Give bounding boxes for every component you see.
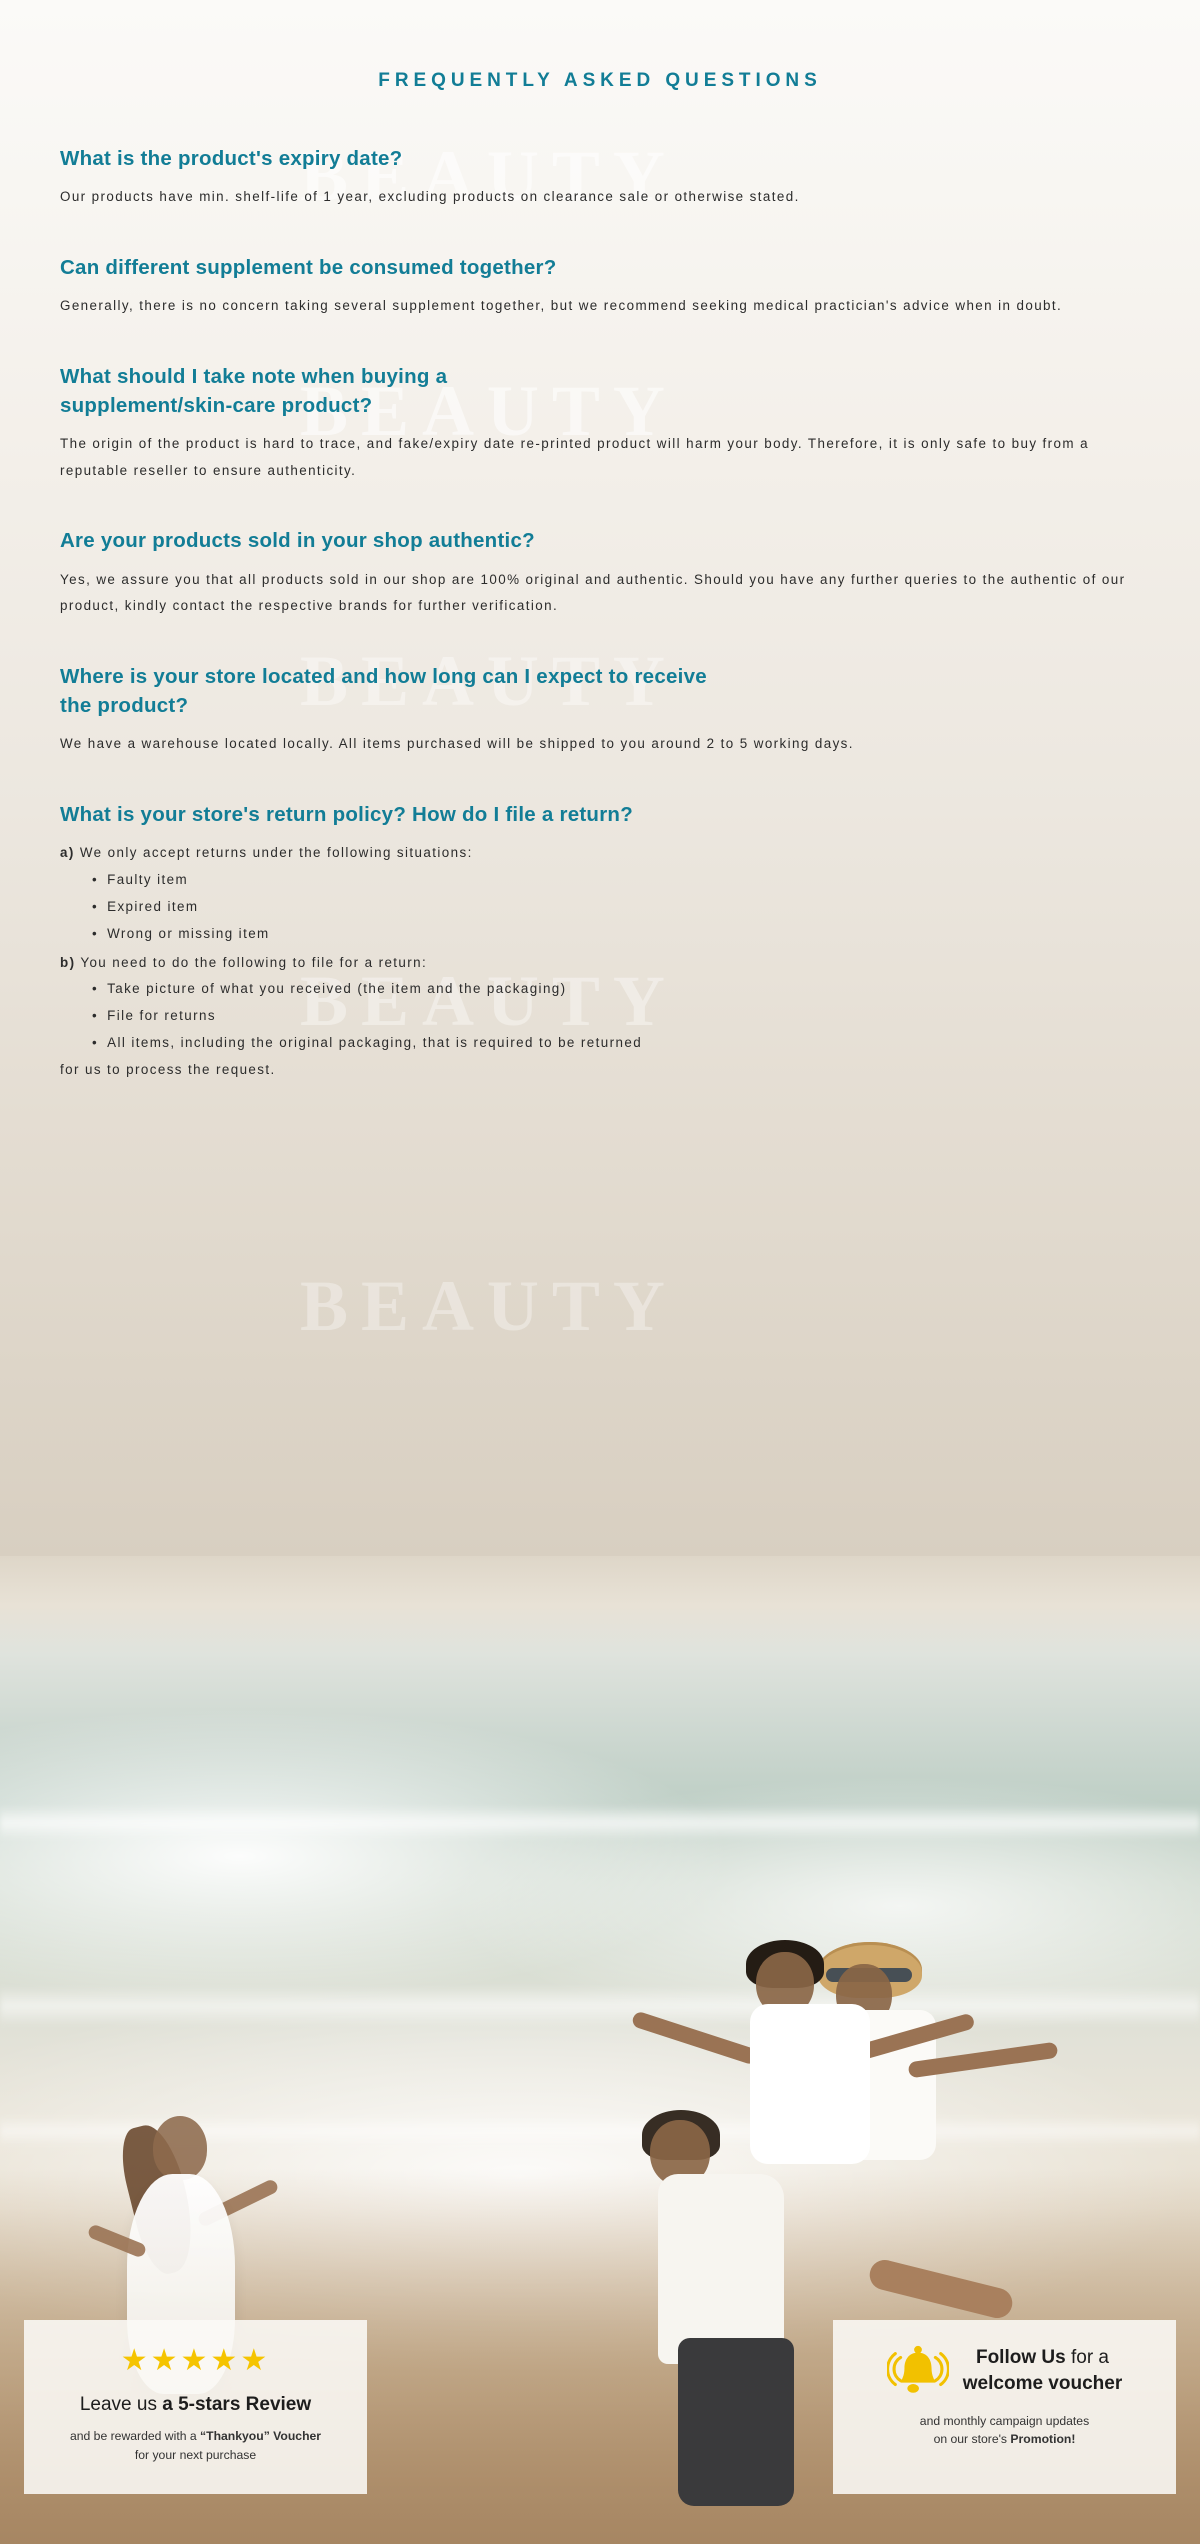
hero-beach-photo: ★★★★★ Leave us a 5-stars Review and be r… (0, 1556, 1200, 2544)
review-sub-bold: “Thankyou” Voucher (200, 2429, 321, 2443)
faq-question: Can different supplement be consumed tog… (60, 253, 1140, 282)
faq-item: Can different supplement be consumed tog… (60, 253, 1140, 320)
faq-item-returns: What is your store's return policy? How … (60, 800, 1140, 1083)
faq-item: What should I take note when buying a su… (60, 362, 1140, 485)
faq-question: What is your store's return policy? How … (60, 800, 1140, 829)
list-item: File for returns (60, 1003, 1140, 1030)
returns-group-a-list: Faulty item Expired item Wrong or missin… (60, 867, 1140, 947)
faq-answer: Our products have min. shelf-life of 1 y… (60, 184, 1140, 211)
returns-group-b-list: Take picture of what you received (the i… (60, 976, 1140, 1056)
adult-leg (867, 2257, 1016, 2321)
faq-question: Where is your store located and how long… (60, 662, 720, 720)
review-headline-bold: a 5-stars Review (162, 2394, 311, 2415)
follow-headline-plain: for a (1066, 2347, 1109, 2368)
follow-card-headline: Follow Us for a welcome voucher (963, 2345, 1122, 2396)
star-rating-icon: ★★★★★ (42, 2346, 349, 2376)
follow-headline-bold1: Follow Us (976, 2347, 1066, 2368)
follow-card-row: Follow Us for a welcome voucher (851, 2342, 1158, 2400)
returns-group-a: a) We only accept returns under the foll… (60, 840, 1140, 867)
faq-answer: We have a warehouse located locally. All… (60, 731, 1140, 758)
list-item: Take picture of what you received (the i… (60, 976, 1140, 1003)
review-sub-plain: and be rewarded with a (70, 2429, 200, 2443)
faq-section: BEAUTY BEAUTY BEAUTY BEAUTY BEAUTY FREQU… (0, 0, 1200, 1556)
faq-question: What is the product's expiry date? (60, 144, 1140, 173)
child-arm (631, 2010, 760, 2065)
returns-group-a-text: We only accept returns under the followi… (80, 845, 473, 860)
faq-item: Are your products sold in your shop auth… (60, 526, 1140, 620)
watermark-beauty: BEAUTY (300, 1265, 678, 1348)
follow-card[interactable]: Follow Us for a welcome voucher and mont… (833, 2320, 1176, 2494)
faq-question: Are your products sold in your shop auth… (60, 526, 1140, 555)
review-card[interactable]: ★★★★★ Leave us a 5-stars Review and be r… (24, 2320, 367, 2494)
faq-item: What is the product's expiry date? Our p… (60, 144, 1140, 211)
returns-group-b: b) You need to do the following to file … (60, 950, 1140, 977)
faq-question: What should I take note when buying a su… (60, 362, 580, 420)
follow-sub-line1: and monthly campaign updates (920, 2414, 1089, 2428)
wave-foam (0, 1806, 1200, 1840)
follow-headline-bold2: welcome voucher (963, 2373, 1122, 2394)
returns-closing: for us to process the request. (60, 1057, 1140, 1084)
faq-answer: Generally, there is no concern taking se… (60, 293, 1140, 320)
child-head (153, 2116, 207, 2180)
faq-list: What is the product's expiry date? Our p… (0, 144, 1200, 1084)
returns-group-a-label: a) (60, 845, 75, 860)
faq-item: Where is your store located and how long… (60, 662, 1140, 758)
faq-answer: Yes, we assure you that all products sol… (60, 567, 1140, 621)
bell-icon (887, 2342, 949, 2400)
returns-group-b-label: b) (60, 955, 75, 970)
list-item: Faulty item (60, 867, 1140, 894)
review-card-headline: Leave us a 5-stars Review (42, 2392, 349, 2418)
list-item: Wrong or missing item (60, 921, 1140, 948)
review-sub-line2: for your next purchase (135, 2448, 256, 2462)
list-item: All items, including the original packag… (60, 1030, 1140, 1057)
returns-group-b-text: You need to do the following to file for… (80, 955, 427, 970)
follow-sub-line2-plain: on our store's (934, 2432, 1011, 2446)
faq-section-title: FREQUENTLY ASKED QUESTIONS (0, 13, 1200, 92)
list-item: Expired item (60, 894, 1140, 921)
review-card-sub: and be rewarded with a “Thankyou” Vouche… (42, 2427, 349, 2464)
review-headline-plain: Leave us (80, 2394, 162, 2415)
follow-sub-line2-bold: Promotion! (1010, 2432, 1075, 2446)
faq-answer: The origin of the product is hard to tra… (60, 431, 1140, 485)
promo-cards: ★★★★★ Leave us a 5-stars Review and be r… (0, 2320, 1200, 2494)
child-shirt (750, 2004, 870, 2164)
promo-page: BEAUTY BEAUTY BEAUTY BEAUTY BEAUTY FREQU… (0, 0, 1200, 2544)
follow-card-sub: and monthly campaign updates on our stor… (851, 2412, 1158, 2449)
